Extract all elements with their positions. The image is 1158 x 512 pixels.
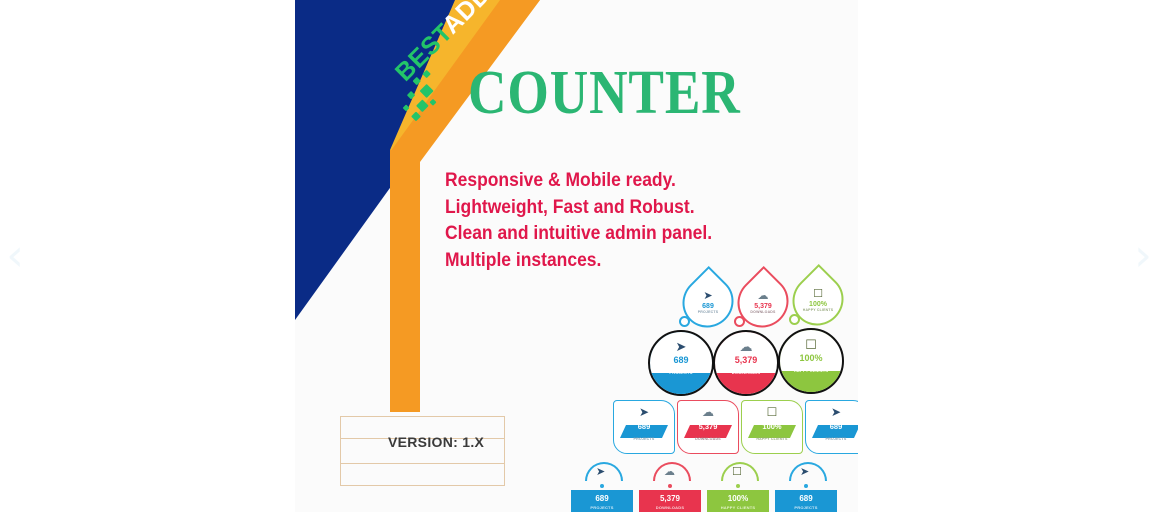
paper-plane-icon: ➤ — [639, 406, 649, 418]
counter-label: DOWNLOADS — [750, 310, 775, 314]
paper-plane-icon: ➤ — [703, 290, 712, 301]
counter-label: DOWNLOADS — [695, 437, 721, 441]
counter-value: 100% — [799, 353, 822, 363]
calendar-box-icon: ☐ — [732, 466, 742, 477]
paper-plane-icon: ➤ — [676, 341, 687, 354]
counter-label: PROJECTS — [571, 503, 633, 510]
cloud-download-icon: ☁ — [664, 466, 675, 477]
cloud-download-icon: ☁ — [740, 341, 753, 354]
counter-value: 689 — [571, 490, 633, 503]
counter-label: HAPPY CLIENTS — [756, 437, 787, 441]
counter-value: 100% — [762, 422, 781, 431]
counter-label: PROJECTS — [826, 437, 847, 441]
counter-value: 689 — [673, 355, 688, 365]
counter-value: 5,379 — [754, 303, 772, 310]
carousel-prev-icon[interactable]: ‹ — [0, 228, 32, 284]
screenshot-root: ‹ › BESTADDON COUNTER Responsive & Mo — [0, 0, 1158, 512]
calendar-box-icon: ☐ — [805, 339, 817, 352]
counter-label: DOWNLOADS — [732, 370, 760, 375]
counter-value: 100% — [707, 490, 769, 503]
counter-label: PROJECTS — [698, 310, 718, 314]
counter-label: PROJECTS — [669, 370, 692, 375]
paper-plane-icon: ➤ — [596, 466, 605, 477]
carousel-next-icon[interactable]: › — [1126, 228, 1158, 284]
counter-value: 5,379 — [699, 422, 718, 431]
counter-value: 689 — [638, 422, 651, 431]
counter-value: 5,379 — [639, 490, 701, 503]
counter-value: 100% — [809, 301, 827, 308]
paper-plane-icon: ➤ — [831, 406, 841, 418]
counter-label: PROJECTS — [634, 437, 655, 441]
counter-preview-cluster: ➤ 689 PROJECTS ☁ 5,379 DOWNLOADS — [295, 0, 858, 512]
plugin-banner-card: BESTADDON COUNTER Responsive & Mobile re… — [295, 0, 858, 512]
cloud-download-icon: ☁ — [702, 406, 714, 418]
counter-value: 689 — [702, 303, 714, 310]
counter-value: 689 — [775, 490, 837, 503]
counter-label: HAPPY CLIENTS — [794, 368, 829, 373]
calendar-box-icon: ☐ — [767, 406, 778, 418]
counter-label: HAPPY CLIENTS — [707, 503, 769, 510]
paper-plane-icon: ➤ — [800, 466, 809, 477]
counter-label: DOWNLOADS — [639, 503, 701, 510]
counter-label: PROJECTS — [775, 503, 837, 510]
counter-value: 689 — [830, 422, 843, 431]
counter-label: HAPPY CLIENTS — [803, 308, 834, 312]
counter-value: 5,379 — [735, 355, 758, 365]
calendar-box-icon: ☐ — [813, 288, 823, 299]
cloud-download-icon: ☁ — [758, 290, 769, 301]
